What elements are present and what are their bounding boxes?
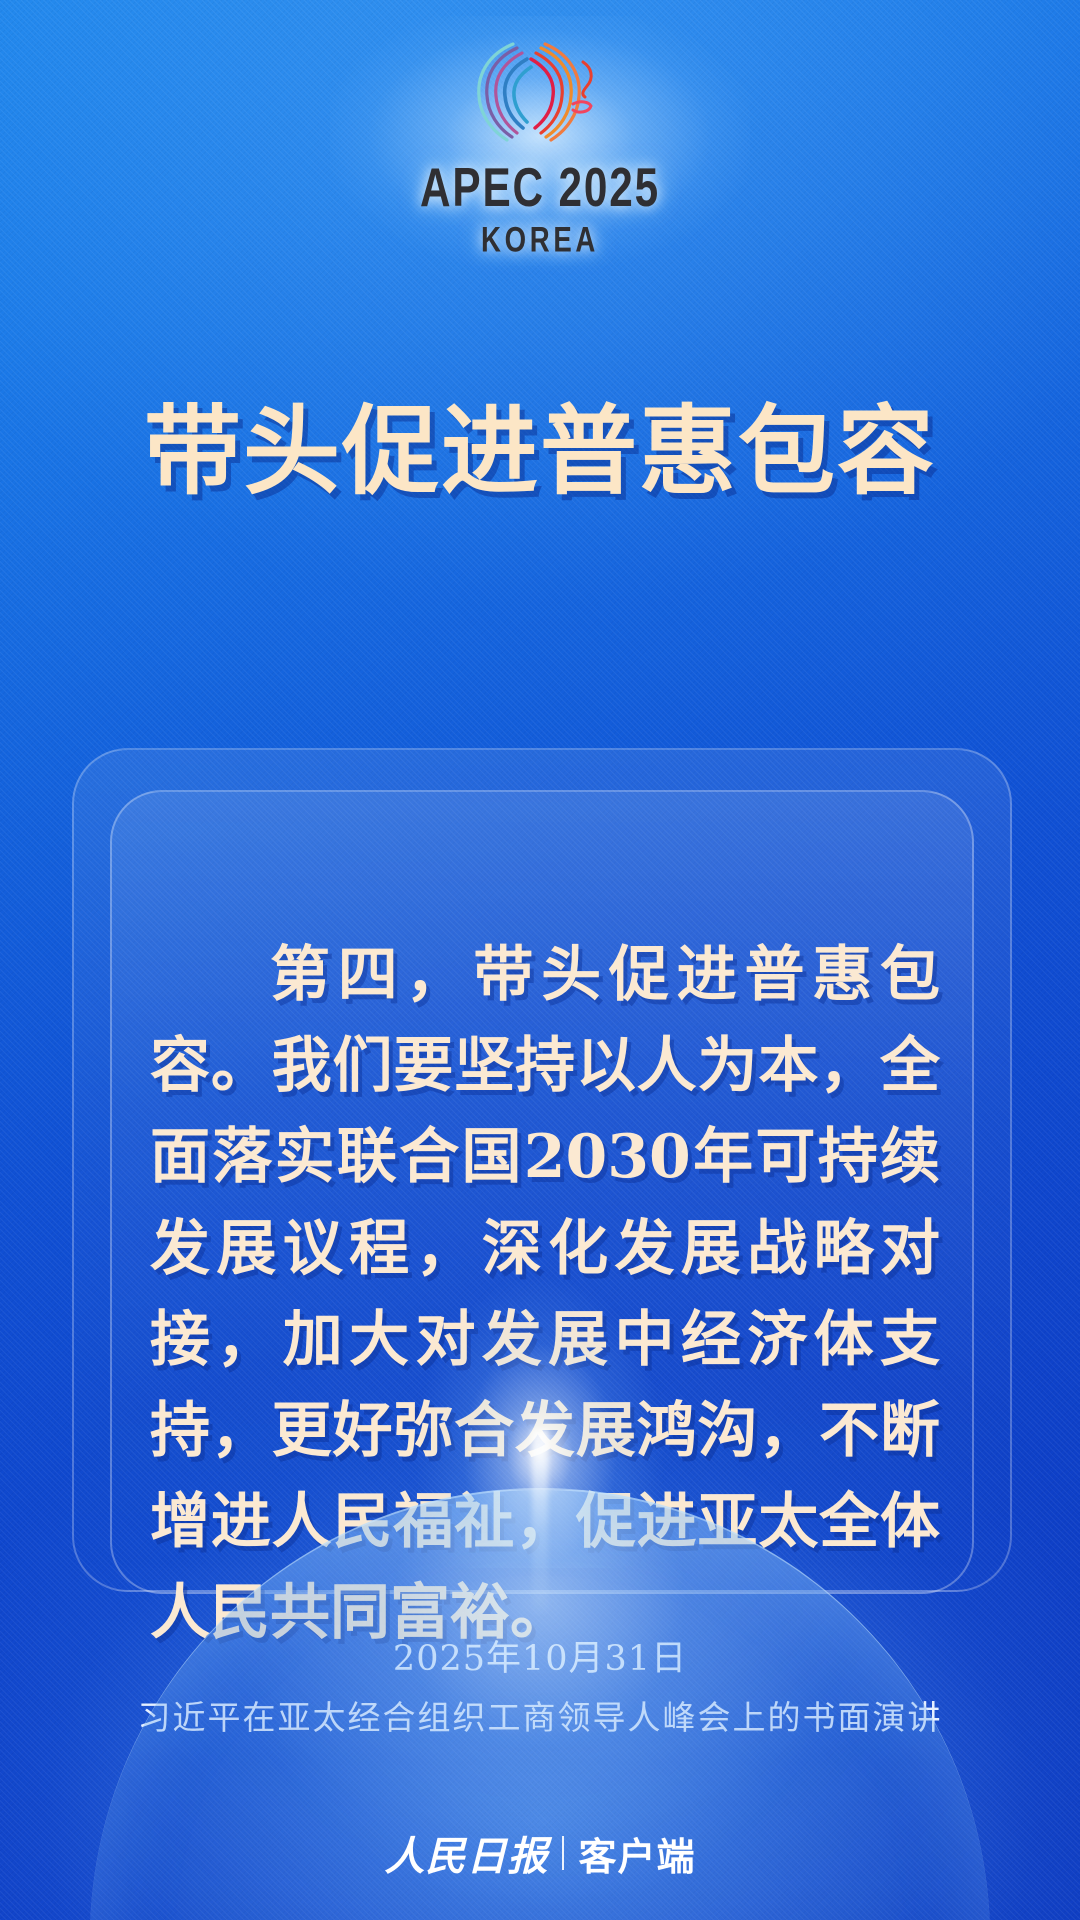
- brand-name-text: 人民日报: [384, 1824, 548, 1882]
- meta-block: 2025年10月31日 习近平在亚太经合组织工商领导人峰会上的书面演讲: [0, 1632, 1080, 1743]
- speech-source: 习近平在亚太经合组织工商领导人峰会上的书面演讲: [0, 1692, 1080, 1743]
- apec-2025-korea-emblem-icon: [455, 36, 625, 154]
- page-title: 带头促进普惠包容: [0, 398, 1080, 505]
- speech-date: 2025年10月31日: [0, 1632, 1080, 1686]
- quote-paragraph: 第四，带头促进普惠包容。我们要坚持以人为本，全面落实联合国2030年可持续发展议…: [150, 930, 940, 1660]
- logo-apec-text: APEC 2025: [43, 160, 1037, 214]
- brand-footer: 人民日报 客户端: [0, 1824, 1080, 1882]
- brand-product-text: 客户端: [578, 1826, 695, 1881]
- apec-logo-block: APEC 2025 KOREA: [0, 36, 1080, 256]
- brand-divider: [562, 1836, 564, 1870]
- poster-canvas: APEC 2025 KOREA 带头促进普惠包容 第四，带头促进普惠包容。我们要…: [0, 0, 1080, 1920]
- logo-korea-text: KOREA: [43, 223, 1037, 258]
